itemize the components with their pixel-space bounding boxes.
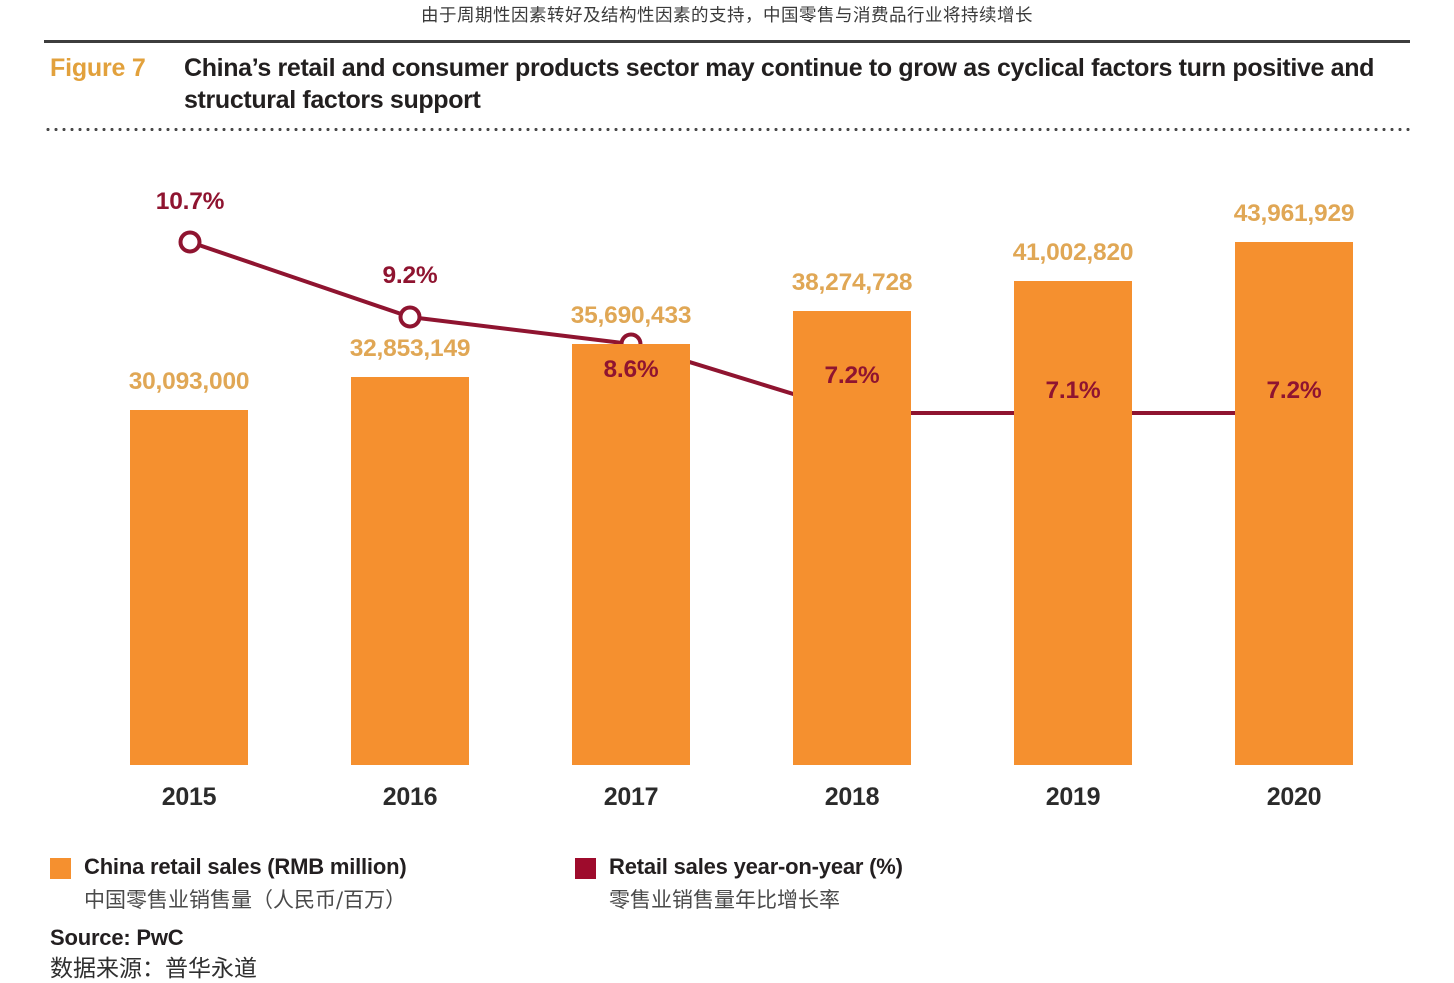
title-dotted-rule <box>44 128 1410 131</box>
x-tick-label-2015: 2015 <box>99 783 279 812</box>
line-marker-2015 <box>181 233 200 252</box>
pct-label-2015: 10.7% <box>90 188 290 216</box>
x-tick-label-2019: 2019 <box>983 783 1163 812</box>
legend-label-bar-zh: 中国零售业销售量（人民币/百万） <box>84 884 406 914</box>
bar-value-label-2018: 38,274,728 <box>722 269 982 297</box>
pct-label-2020: 7.2% <box>1194 377 1394 405</box>
bar-value-label-2019: 41,002,820 <box>943 239 1203 267</box>
header-divider-rule <box>44 40 1410 43</box>
figure-number-label: Figure 7 <box>50 52 184 84</box>
source-text-zh: 数据来源：普华永道 <box>50 955 750 983</box>
bar-2015 <box>130 410 248 765</box>
bar-value-label-2017: 35,690,433 <box>501 302 761 330</box>
bar-value-label-2015: 30,093,000 <box>59 368 319 396</box>
pct-label-2019: 7.1% <box>973 377 1173 405</box>
x-tick-label-2016: 2016 <box>320 783 500 812</box>
bar-2016 <box>351 377 469 765</box>
figure-title-text: China’s retail and consumer products sec… <box>184 52 1420 116</box>
x-axis: 201520162017201820192020 <box>0 783 1454 823</box>
legend-label-bar-en: China retail sales (RMB million) <box>84 854 406 880</box>
running-header-text: 由于周期性因素转好及结构性因素的支持，中国零售与消费品行业将持续增长 <box>0 2 1454 27</box>
pct-label-2018: 7.2% <box>752 362 952 390</box>
pct-label-2016: 9.2% <box>310 262 510 290</box>
legend-label-line-en: Retail sales year-on-year (%) <box>609 854 903 880</box>
source-text-en: Source: PwC <box>50 924 750 952</box>
x-tick-label-2017: 2017 <box>541 783 721 812</box>
legend-label-line-zh: 零售业销售量年比增长率 <box>609 884 840 914</box>
x-tick-label-2018: 2018 <box>762 783 942 812</box>
legend-swatch-darkred-icon <box>575 858 596 879</box>
bar-2017 <box>572 344 690 765</box>
bar-value-label-2020: 43,961,929 <box>1164 200 1424 228</box>
x-tick-label-2020: 2020 <box>1204 783 1384 812</box>
bar-2020 <box>1235 242 1353 765</box>
legend-swatch-orange-icon <box>50 858 71 879</box>
line-marker-2016 <box>401 308 420 327</box>
figure-title-block: Figure 7 China’s retail and consumer pro… <box>50 52 1420 116</box>
pct-label-2017: 8.6% <box>531 356 731 384</box>
source-block: Source: PwC 数据来源：普华永道 <box>50 924 750 983</box>
bar-value-label-2016: 32,853,149 <box>280 335 540 363</box>
chart-legend: China retail sales (RMB million) 中国零售业销售… <box>50 854 1410 916</box>
bar-2019 <box>1014 281 1132 765</box>
chart-plot-area: 30,093,00032,853,14935,690,43338,274,728… <box>0 140 1454 840</box>
